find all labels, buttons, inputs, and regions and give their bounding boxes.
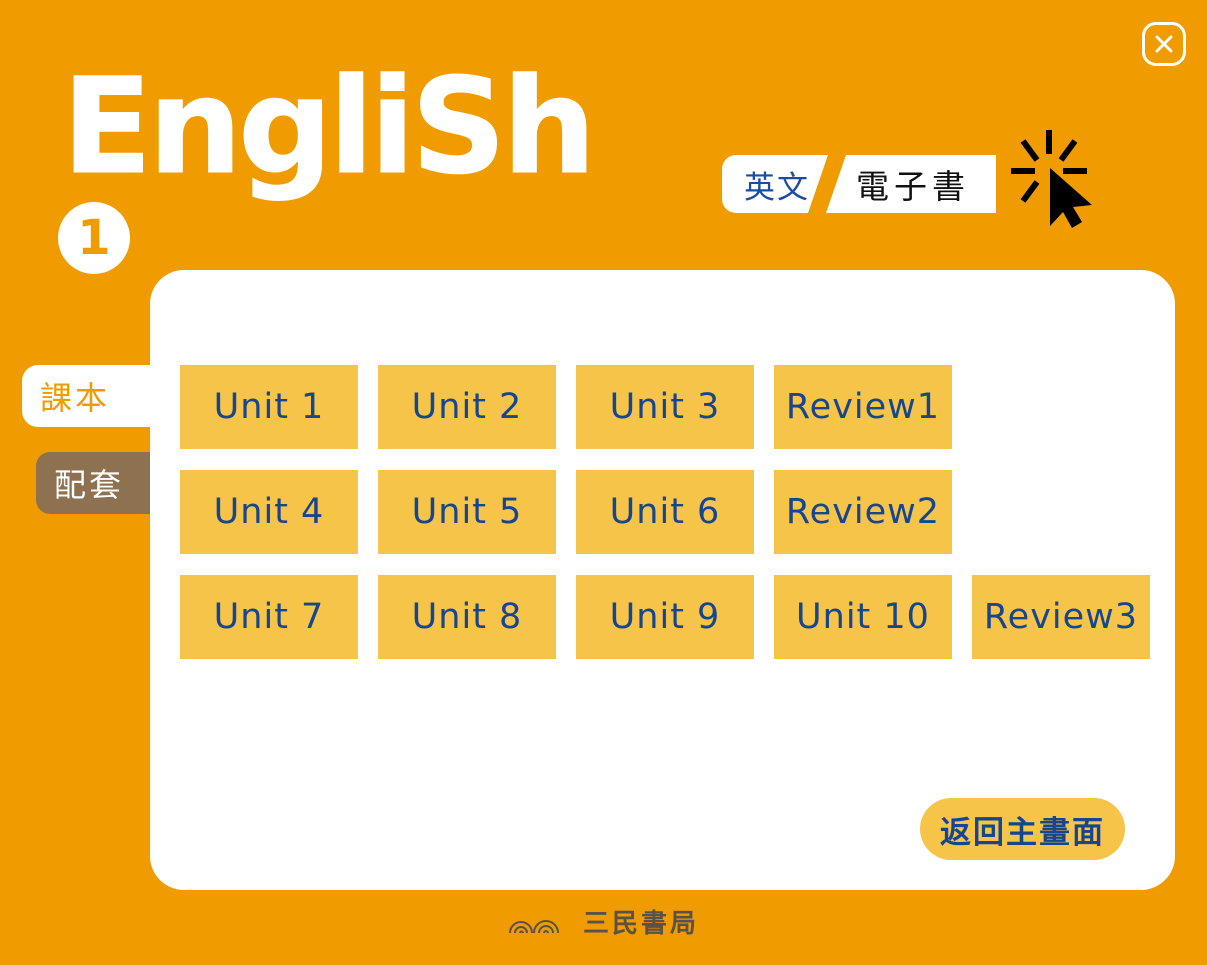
unit-row: Unit 7 Unit 8 Unit 9 Unit 10 Review3 <box>180 575 1174 659</box>
unit-button[interactable]: Unit 5 <box>378 470 556 554</box>
unit-button[interactable]: Unit 1 <box>180 365 358 449</box>
unit-button[interactable]: Unit 4 <box>180 470 358 554</box>
sidebar-tab-label: 配套 <box>54 460 124 506</box>
review-button[interactable]: Review2 <box>774 470 952 554</box>
publisher-logo: 三民書局 <box>0 903 1207 940</box>
badge-media: 電子書 <box>826 155 996 213</box>
publisher-name: 三民書局 <box>583 903 699 940</box>
volume-badge: 1 <box>58 202 130 274</box>
unit-grid: Unit 1 Unit 2 Unit 3 Review1 Unit 4 Unit… <box>180 365 1174 680</box>
app-root: EngliSh1 英文 電子書 課本 配套 Unit 1 <box>0 0 1207 965</box>
unit-button[interactable]: Unit 6 <box>576 470 754 554</box>
unit-button[interactable]: Unit 10 <box>774 575 952 659</box>
sidebar-tab-label: 課本 <box>40 373 110 419</box>
page-title-text: EngliSh <box>62 50 592 204</box>
content-panel: Unit 1 Unit 2 Unit 3 Review1 Unit 4 Unit… <box>150 270 1175 890</box>
review-button[interactable]: Review3 <box>972 575 1150 659</box>
unit-button[interactable]: Unit 8 <box>378 575 556 659</box>
unit-row: Unit 1 Unit 2 Unit 3 Review1 <box>180 365 1174 449</box>
ebook-badge: 英文 電子書 <box>722 155 996 213</box>
unit-button[interactable]: Unit 3 <box>576 365 754 449</box>
back-to-main-button[interactable]: 返回主畫面 <box>920 798 1125 860</box>
badge-subject: 英文 <box>722 155 828 213</box>
click-cursor-icon <box>1009 128 1099 228</box>
review-button[interactable]: Review1 <box>774 365 952 449</box>
unit-row: Unit 4 Unit 5 Unit 6 Review2 <box>180 470 1174 554</box>
unit-button[interactable]: Unit 9 <box>576 575 754 659</box>
close-button[interactable] <box>1142 22 1186 66</box>
close-icon <box>1145 25 1183 63</box>
sidebar-tab-textbook[interactable]: 課本 <box>22 365 170 427</box>
unit-button[interactable]: Unit 7 <box>180 575 358 659</box>
page-title: EngliSh1 <box>62 52 622 232</box>
unit-button[interactable]: Unit 2 <box>378 365 556 449</box>
arches-logo-icon <box>508 909 574 935</box>
